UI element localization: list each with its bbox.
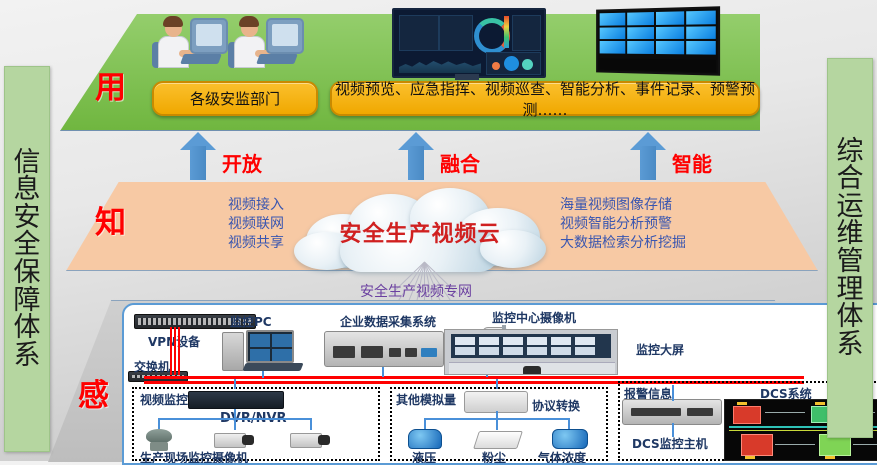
person-figure [228,12,302,70]
monitor-icon [266,18,304,54]
pc-keyboard-icon [242,363,303,371]
sensor-label-hydraulic: 液压 [412,449,436,465]
arrow-label-open: 开放 [222,148,262,177]
arrow-label-smart: 智能 [672,148,712,177]
screen-cell [479,347,499,355]
dashboard-screenshot [392,8,546,78]
dvr-nvr-icon [188,391,284,409]
screen-cell [527,337,547,345]
bubble-dot [504,56,519,71]
server-slot [687,408,713,416]
side-panel-operations: 综合运维管理体系 [827,58,873,438]
box-camera-icon [290,431,332,449]
server-port [333,346,355,358]
dashboard-panel [399,15,439,51]
arrow-up-fusion-icon [398,132,434,180]
side-panel-security: 信息安全保障体系 [4,66,50,452]
private-network-label: 安全生产视频专网 [360,281,472,301]
big-screen-label: 监控大屏 [636,341,684,358]
server-port [389,348,401,357]
blue-link [234,379,236,389]
dashboard-panel [512,15,541,51]
screen-cell [455,337,475,345]
bubble-dot [522,59,533,70]
server-port [361,346,383,358]
arrow-shaft [190,146,206,180]
arrow-shaft [640,146,656,180]
know-right-capabilities: 海量视频图像存储 视频智能分析预警 大数据检索分析挖掘 [560,196,790,253]
side-panel-security-label: 信息安全保障体系 [14,149,41,369]
sensor-label-gas: 气体浓度 [538,449,586,465]
blue-link [234,418,236,430]
pc-screen-icon [246,330,294,363]
video-wall [596,6,720,75]
sense-card: VPN设备 交换机 监控PC 企业数据采集系统 [122,303,877,465]
screen-cell [575,347,595,355]
camera-lens [242,435,254,445]
screen-cell [551,347,571,355]
keyboard-icon [256,54,298,64]
blue-link [672,385,674,401]
screen-cell [479,337,499,345]
diagram-canvas: 用 各级安监部门 视频预览、应急指挥、视频巡查、智能分析、事件记录、预警预测……… [0,0,877,461]
big-screen-icon [444,329,618,375]
blue-link [310,418,312,430]
red-link [178,327,180,375]
dashboard-panel [439,15,473,51]
monitor-icon [190,18,228,54]
keyboard-icon [180,54,222,64]
cloud-shape: 安全生产视频云 [288,188,552,270]
side-panel-operations-label: 综合运维管理体系 [837,138,864,358]
server-slot [631,408,681,416]
protocol-converter-icon [464,391,528,413]
blue-link [382,367,384,377]
video-wall-grid [600,11,716,55]
dcs-host-label: DCS监控主机 [632,435,708,452]
layer-tag-sense: 感 [78,370,109,415]
know-left-capabilities: 视频接入 视频联网 视频共享 [134,196,284,253]
camera-lens [318,435,330,445]
data-collect-server-icon [324,331,444,367]
hydraulic-sensor-icon [408,429,442,449]
server-port [405,348,417,357]
dcs-host-icon [622,399,722,425]
function-box[interactable]: 视频预览、应急指挥、视频巡查、智能分析、事件记录、预警预测…… [330,81,760,116]
arrow-up-smart-icon [630,132,666,180]
site-cameras-label: 生产现场监控摄像机 [140,449,248,465]
hair-shape [163,16,183,27]
dashboard-sparkline [399,53,481,73]
screen-cell [455,347,475,355]
users-illustration [152,8,304,70]
person-figure [152,12,226,70]
group-analog-title: 其他模拟量 [396,391,456,408]
arrow-up-open-icon [180,132,216,180]
red-link [174,327,176,375]
layer-tag-know: 知 [95,197,126,242]
pc-tower-icon [222,332,244,371]
gas-sensor-icon [552,429,588,449]
protocol-converter-label: 协议转换 [532,397,580,414]
hair-shape [239,16,259,27]
blue-link [496,379,498,389]
red-link [170,327,172,375]
dashboard-colorbar [504,16,509,48]
ptz-dome [146,429,172,443]
screen-cell [503,347,523,355]
dept-box[interactable]: 各级安监部门 [152,81,318,116]
blue-link [262,371,264,378]
sensor-label-dust: 粉尘 [482,449,506,465]
console-chair [523,366,541,375]
center-camera-label: 监控中心摄像机 [492,309,576,326]
box-camera-icon [214,431,256,449]
bubble-dot [492,62,500,70]
red-bus-line [144,376,804,379]
core-switch-label: 交换机 [134,358,170,375]
cloud-title: 安全生产视频云 [288,216,552,248]
arrow-label-fusion: 融合 [440,148,480,177]
screen-cell [527,347,547,355]
screen-cell [575,337,595,345]
screen-cell [551,337,571,345]
monitor-pc-label: 监控PC [230,313,272,330]
dust-sensor-icon [473,431,523,449]
arrow-shaft [408,146,424,180]
layer-tag-use: 用 [95,62,126,107]
screen-cell [503,337,523,345]
blue-link [496,418,498,430]
group-video-title: 视频监控 [140,391,188,408]
data-collect-label: 企业数据采集系统 [340,313,436,330]
server-port [421,348,437,357]
